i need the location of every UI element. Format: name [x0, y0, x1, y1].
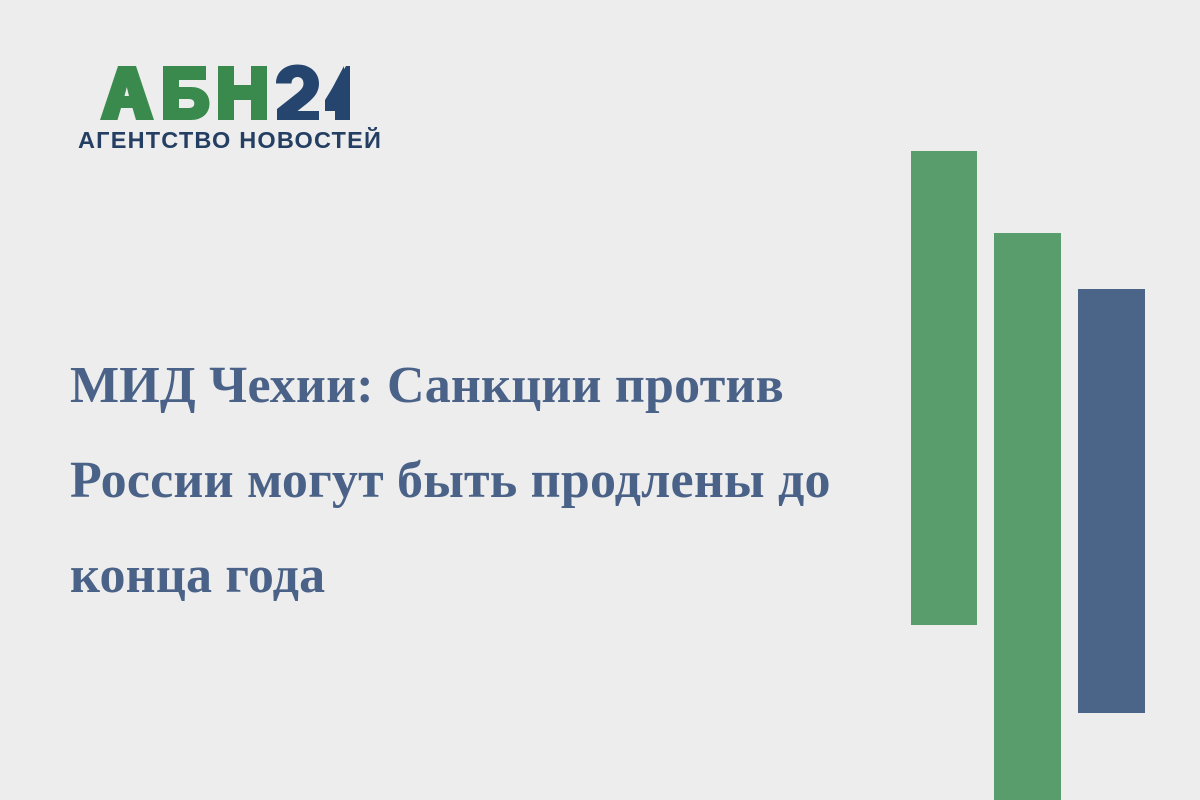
logo[interactable]: АГЕНТСТВО НОВОСТЕЙ: [78, 62, 368, 153]
headline: МИД Чехии: Санкции против России могут б…: [70, 338, 880, 623]
decorative-bar-2: [994, 233, 1061, 800]
logo-tagline: АГЕНТСТВО НОВОСТЕЙ: [78, 129, 368, 153]
decorative-bar-3: [1078, 289, 1145, 713]
abn24-wordmark-icon: [78, 62, 350, 124]
decorative-bar-1: [911, 151, 977, 625]
news-share-card: АГЕНТСТВО НОВОСТЕЙ МИД Чехии: Санкции пр…: [0, 0, 1200, 800]
